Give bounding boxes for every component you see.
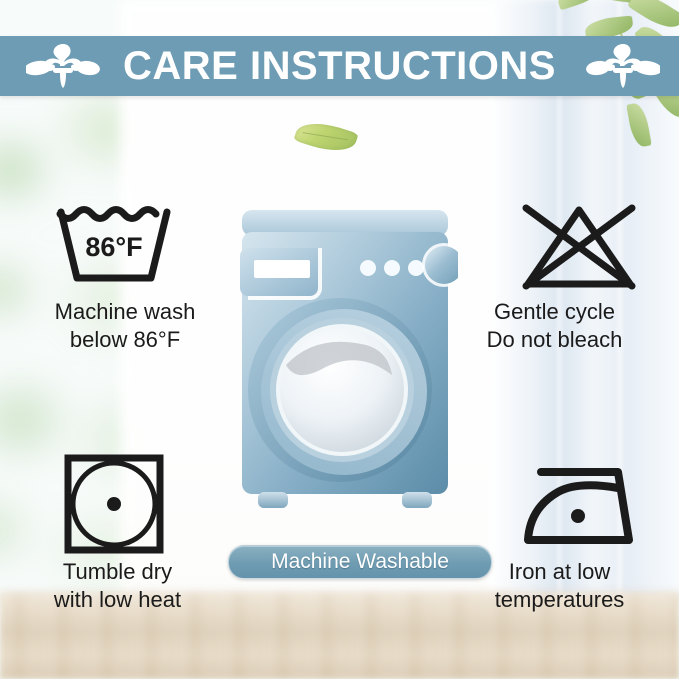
indicator-dot: [408, 260, 424, 276]
wash-tub-icon: 86°F: [52, 200, 176, 290]
caption-line: Machine wash: [0, 298, 250, 326]
machine-foot: [402, 492, 432, 508]
badge-label: Machine Washable: [271, 550, 449, 574]
caption-line: Gentle cycle: [430, 298, 679, 326]
fleur-de-lis-icon: [586, 38, 660, 94]
caption-gentle-cycle: Gentle cycle Do not bleach: [430, 298, 679, 353]
machine-washable-badge: Machine Washable: [228, 545, 492, 579]
care-instructions-card: CARE INSTRUCTIONS 86°F Machine: [0, 0, 679, 679]
tumble-dry-square-icon: [62, 452, 166, 556]
washing-machine-illustration: [232, 210, 458, 520]
indicator-dot: [384, 260, 400, 276]
caption-tumble-dry: Tumble dry with low heat: [0, 558, 235, 613]
caption-machine-wash: Machine wash below 86°F: [0, 298, 250, 353]
caption-line: Tumble dry: [0, 558, 235, 586]
caption-line: with low heat: [0, 586, 235, 614]
triangle-crossed-out-icon: [512, 198, 646, 294]
caption-line: below 86°F: [0, 326, 250, 354]
header-banner: CARE INSTRUCTIONS: [0, 36, 679, 96]
iron-icon: [518, 458, 642, 550]
indicator-dot: [360, 260, 376, 276]
wash-temperature-label: 86°F: [85, 232, 142, 262]
caption-line: Do not bleach: [430, 326, 679, 354]
machine-foot: [258, 492, 288, 508]
caption-line: temperatures: [440, 586, 679, 614]
fleur-de-lis-icon: [26, 38, 100, 94]
page-title: CARE INSTRUCTIONS: [0, 36, 679, 96]
